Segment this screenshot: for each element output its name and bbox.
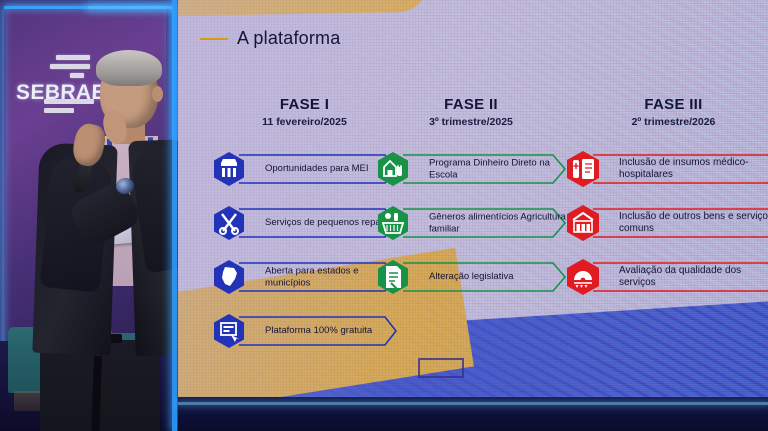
arrow-shape: Gêneros alimentícios Agricultura familia…	[401, 208, 566, 238]
market-stall-icon	[212, 150, 246, 188]
online-platform-icon	[212, 312, 246, 350]
list-item[interactable]: Oportunidades para MEI	[212, 146, 397, 192]
page-title: A plataforma	[237, 28, 340, 49]
tools-repair-icon	[212, 204, 246, 242]
phase-date-1: 11 fevereiro/2025	[212, 116, 397, 128]
brazil-map-icon	[212, 258, 246, 296]
list-item[interactable]: Inclusão de outros bens e serviços comun…	[566, 200, 768, 246]
phase-column-1: FASE I 11 fevereiro/2025 Oportunidades p…	[212, 96, 397, 362]
school-money-icon	[376, 150, 410, 188]
phase-title-3: FASE III	[566, 96, 768, 113]
law-document-icon	[376, 258, 410, 296]
list-item[interactable]: Avaliação da qualidade dos serviços	[566, 254, 768, 300]
list-item[interactable]: Serviços de pequenos reparos	[212, 200, 397, 246]
list-item[interactable]: Aberta para estados e municípios	[212, 254, 397, 300]
arrow-shape: Serviços de pequenos reparos	[237, 208, 397, 238]
list-item[interactable]: Gêneros alimentícios Agricultura familia…	[376, 200, 566, 246]
list-item-label: Plataforma 100% gratuita	[265, 325, 397, 337]
list-item-label: Inclusão de outros bens e serviços comun…	[619, 211, 768, 235]
list-item-label: Inclusão de insumos médico-hospitalares	[619, 157, 768, 181]
list-item-label: Programa Dinheiro Direto na Escola	[429, 157, 569, 180]
arrow-shape: Alteração legislativa	[401, 262, 566, 292]
arrow-shape: Inclusão de outros bens e serviços comun…	[591, 208, 768, 238]
presenter-hair	[96, 50, 162, 86]
presentation-screen: A plataforma FASE I 11 fevereiro/2025	[178, 0, 768, 400]
slide-title-row: A plataforma	[200, 28, 340, 49]
food-basket-icon	[376, 204, 410, 242]
arrow-shape: Oportunidades para MEI	[237, 154, 397, 184]
presenter	[12, 40, 197, 431]
slide-content: A plataforma FASE I 11 fevereiro/2025	[178, 0, 768, 400]
list-item[interactable]: Alteração legislativa	[376, 254, 566, 300]
phase-items-3: Inclusão de insumos médico-hospitalares …	[566, 146, 768, 300]
title-accent-dash	[200, 38, 228, 40]
phase-title-2: FASE II	[376, 96, 566, 113]
list-item-label: Gêneros alimentícios Agricultura familia…	[429, 211, 569, 234]
medical-supplies-icon	[566, 150, 600, 188]
phase-date-3: 2º trimestre/2026	[566, 116, 768, 128]
list-item[interactable]: Inclusão de insumos médico-hospitalares	[566, 146, 768, 192]
list-item[interactable]: Programa Dinheiro Direto na Escola	[376, 146, 566, 192]
quality-rating-icon	[566, 258, 600, 296]
phase-column-3: FASE III 2º trimestre/2026 Inclusão de i…	[566, 96, 768, 308]
presenter-ear	[152, 86, 163, 102]
list-item[interactable]: Plataforma 100% gratuita	[212, 308, 397, 354]
arrow-shape: Avaliação da qualidade dos serviços	[591, 262, 768, 292]
phase-items-2: Programa Dinheiro Direto na Escola Gêner…	[376, 146, 566, 300]
arrow-shape: Plataforma 100% gratuita	[237, 316, 397, 346]
phase-date-2: 3º trimestre/2025	[376, 116, 566, 128]
stage-front-glow	[178, 402, 768, 405]
list-item-label: Avaliação da qualidade dos serviços	[619, 265, 768, 289]
list-item-label: Alteração legislativa	[429, 271, 569, 283]
goods-services-icon	[566, 204, 600, 242]
phase-column-2: FASE II 3º trimestre/2025 Programa Dinhe…	[376, 96, 566, 308]
phase-title-1: FASE I	[212, 96, 397, 113]
arrow-shape: Inclusão de insumos médico-hospitalares	[591, 154, 768, 184]
slide-footer-artifact	[418, 358, 464, 378]
photo-stage: SEBRAE	[0, 0, 768, 431]
neon-notch-decor	[88, 6, 174, 9]
arrow-shape: Programa Dinheiro Direto na Escola	[401, 154, 566, 184]
phase-columns: FASE I 11 fevereiro/2025 Oportunidades p…	[178, 96, 768, 356]
phase-items-1: Oportunidades para MEI Serviços de peque…	[212, 146, 397, 354]
screen-edge-neon	[172, 0, 177, 431]
arrow-shape: Aberta para estados e municípios	[237, 262, 397, 292]
